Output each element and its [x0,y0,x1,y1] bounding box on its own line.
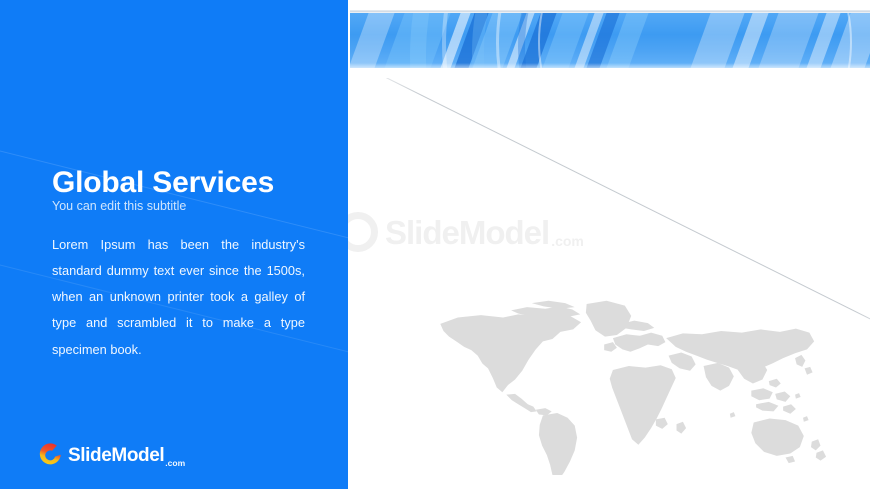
banner-stripe [671,13,756,68]
banner-stripe [739,13,830,68]
presentation-slide: SlideModel .com [0,0,870,489]
banner-stripe [421,13,482,68]
brand-tld: .com [165,458,185,470]
banner-stripe [487,13,546,68]
banner-stripe [787,13,852,68]
brand-name: SlideModel [68,446,164,465]
banner-stripe [567,13,631,68]
watermark-text: SlideModel [385,216,549,249]
watermark-tld: .com [551,233,584,252]
banner-arc [410,13,870,68]
banner-stripe [555,13,615,68]
content-panel: Global Services You can edit this subtit… [0,0,348,489]
banner-stripe [453,13,534,68]
banner-stripe [713,13,780,68]
banner-blue-band [350,13,870,68]
banner-arc [442,13,870,68]
slidemodel-watermark: SlideModel .com [338,212,584,252]
page-body-text: Lorem Ipsum has been the industry's stan… [52,232,305,363]
slidemodel-brand-logo[interactable]: SlideModel .com [38,440,185,470]
banner-stripe [501,13,568,68]
slidemodel-logo-icon [38,443,63,468]
banner-arc [472,13,870,68]
banner-arc [496,13,870,68]
banner-stripe [811,13,870,68]
banner-arc [518,13,870,68]
banner-stripe [587,13,660,68]
diagonal-accent-line [352,60,870,346]
banner-stripe [350,13,405,68]
banner-stripe [523,13,600,68]
banner-stripe [365,13,462,68]
page-subtitle: You can edit this subtitle [52,199,322,214]
banner-arc [538,13,852,68]
header-banner [350,0,870,78]
banner-stripe [435,13,500,68]
page-title: Global Services [52,166,332,201]
world-map-icon [432,300,832,475]
